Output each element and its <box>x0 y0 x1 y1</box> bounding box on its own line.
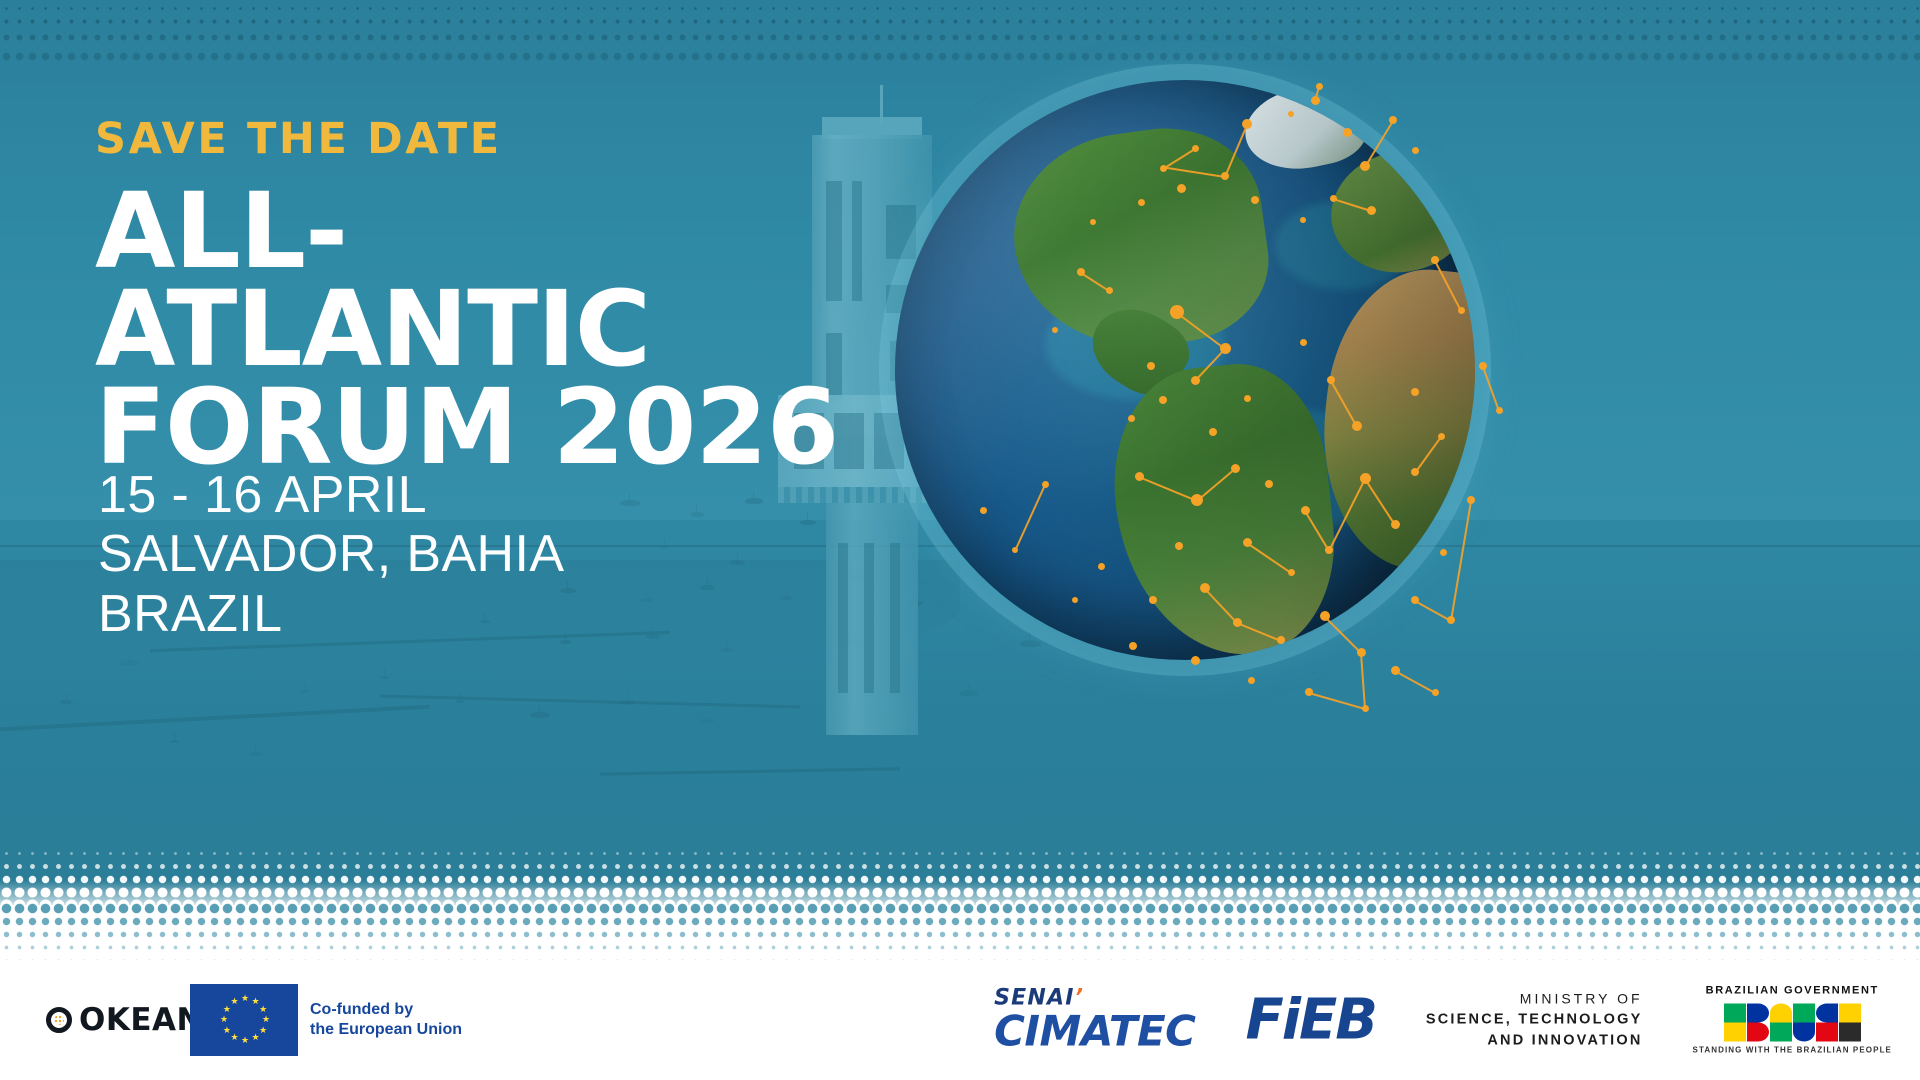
globe <box>895 80 1495 680</box>
boat <box>700 585 715 590</box>
logo-senai-cimatec[interactable]: SENAI’ CIMATEC <box>994 988 1195 1053</box>
network-node <box>1052 327 1058 333</box>
network-node <box>1265 480 1273 488</box>
boat <box>170 740 179 743</box>
boat <box>720 648 734 652</box>
globe-sphere <box>895 80 1475 660</box>
network-node <box>1209 428 1217 436</box>
eyebrow-save-the-date: SAVE THE DATE <box>95 118 855 161</box>
network-node <box>1159 396 1167 404</box>
boat <box>620 500 640 506</box>
okeano-ring-icon <box>46 1007 72 1033</box>
brasil-letter <box>1747 1004 1769 1042</box>
logo-brazilian-government[interactable]: BRAZILIAN GOVERNMENT STANDING WITH THE B… <box>1693 986 1892 1055</box>
boat <box>690 512 704 517</box>
network-node <box>1300 217 1306 223</box>
brasil-letter <box>1770 1004 1792 1042</box>
eu-star-icon: ★ <box>252 1034 258 1040</box>
landmass-greenland <box>1238 80 1372 180</box>
eu-line-2: the European Union <box>310 1020 462 1040</box>
eu-funding-text: Co-funded by the European Union <box>310 1000 462 1040</box>
eu-star-icon: ★ <box>223 1006 229 1012</box>
boat <box>620 700 635 705</box>
boat <box>455 700 464 703</box>
network-link <box>1324 616 1361 653</box>
poster-canvas: SAVE THE DATE ALL-ATLANTIC FORUM 2026 15… <box>0 0 1920 1080</box>
network-node <box>1244 395 1251 402</box>
boat <box>646 634 660 639</box>
ministry-line-1: MINISTRY OF <box>1426 989 1643 1009</box>
fieb-label: FiEB <box>1246 987 1376 1052</box>
boat <box>745 498 763 504</box>
network-link <box>1415 600 1452 622</box>
network-node <box>1300 339 1307 346</box>
boat <box>250 752 261 756</box>
network-node <box>1098 563 1105 570</box>
brasil-header: BRAZILIAN GOVERNMENT <box>1693 986 1892 997</box>
brasil-letter <box>1816 1004 1838 1042</box>
eu-star-icon: ★ <box>241 1037 247 1043</box>
title-line-1: ALL-ATLANTIC <box>95 170 650 390</box>
logo-fieb[interactable]: FiEB <box>1246 992 1376 1048</box>
event-city: SALVADOR, BAHIA <box>98 525 564 584</box>
network-node <box>1138 199 1145 206</box>
eu-flag-icon: ★★★★★★★★★★★★ <box>190 984 298 1056</box>
network-node <box>1251 196 1259 204</box>
eu-star-icon: ★ <box>262 1016 268 1022</box>
event-dates: 15 - 16 APRIL <box>98 466 564 525</box>
footer-logo-bar: OKEANO ★★★★★★★★★★★★ Co-funded by the Eur… <box>0 960 1920 1080</box>
eu-star-icon: ★ <box>259 1027 265 1033</box>
hero-banner: SAVE THE DATE ALL-ATLANTIC FORUM 2026 15… <box>0 0 1920 905</box>
network-node <box>1177 184 1186 193</box>
partner-logos: SENAI’ CIMATEC FiEB MINISTRY OF SCIENCE,… <box>994 986 1892 1055</box>
hero-copy: SAVE THE DATE ALL-ATLANTIC FORUM 2026 <box>95 118 855 476</box>
network-node <box>1149 596 1157 604</box>
landmass-africa <box>1310 260 1475 580</box>
senai-label: SENAI’ <box>994 988 1084 1010</box>
eu-star-icon: ★ <box>252 998 258 1004</box>
brasil-letter <box>1793 1004 1815 1042</box>
network-node <box>1147 362 1155 370</box>
boat <box>730 560 745 565</box>
brasil-letter <box>1724 1004 1746 1042</box>
boat <box>120 660 139 666</box>
network-node <box>980 507 987 514</box>
title-line-2: FORUM 2026 <box>95 379 855 477</box>
page-title: ALL-ATLANTIC FORUM 2026 <box>95 183 855 476</box>
network-node <box>1288 111 1294 117</box>
brasil-tagline: STANDING WITH THE BRAZILIAN PEOPLE <box>1693 1047 1892 1055</box>
logo-ministry-science-technology[interactable]: MINISTRY OF SCIENCE, TECHNOLOGY AND INNO… <box>1426 989 1643 1051</box>
event-details: 15 - 16 APRIL SALVADOR, BAHIA BRAZIL <box>98 466 564 644</box>
network-node <box>1343 128 1352 137</box>
eu-star-icon: ★ <box>223 1027 229 1033</box>
ministry-line-3: AND INNOVATION <box>1426 1030 1643 1051</box>
logo-european-union[interactable]: ★★★★★★★★★★★★ Co-funded by the European U… <box>190 984 462 1056</box>
network-node <box>1440 549 1447 556</box>
network-node <box>1411 388 1419 396</box>
brasil-letter <box>1839 1004 1861 1042</box>
eu-star-icon: ★ <box>220 1016 226 1022</box>
network-node <box>1191 656 1200 665</box>
event-country: BRAZIL <box>98 585 564 644</box>
network-node <box>1129 642 1137 650</box>
boat <box>60 700 73 704</box>
eu-star-icon: ★ <box>259 1006 265 1012</box>
network-node <box>1072 597 1078 603</box>
eu-star-icon: ★ <box>231 1034 237 1040</box>
eu-star-icon: ★ <box>231 998 237 1004</box>
eu-star-icon: ★ <box>241 995 247 1001</box>
brasil-wordmark <box>1693 1002 1892 1042</box>
cimatec-label: CIMATEC <box>994 1011 1195 1053</box>
ministry-line-2: SCIENCE, TECHNOLOGY <box>1426 1009 1643 1030</box>
boat <box>300 690 310 693</box>
boat <box>380 676 389 679</box>
boat <box>700 718 714 723</box>
network-node <box>1090 219 1096 225</box>
network-node <box>1175 542 1183 550</box>
network-node <box>1128 415 1135 422</box>
boat <box>660 546 669 549</box>
network-node <box>1248 677 1255 684</box>
eu-line-1: Co-funded by <box>310 1000 462 1020</box>
network-node <box>1412 147 1419 154</box>
halftone-band-top <box>0 0 1920 68</box>
